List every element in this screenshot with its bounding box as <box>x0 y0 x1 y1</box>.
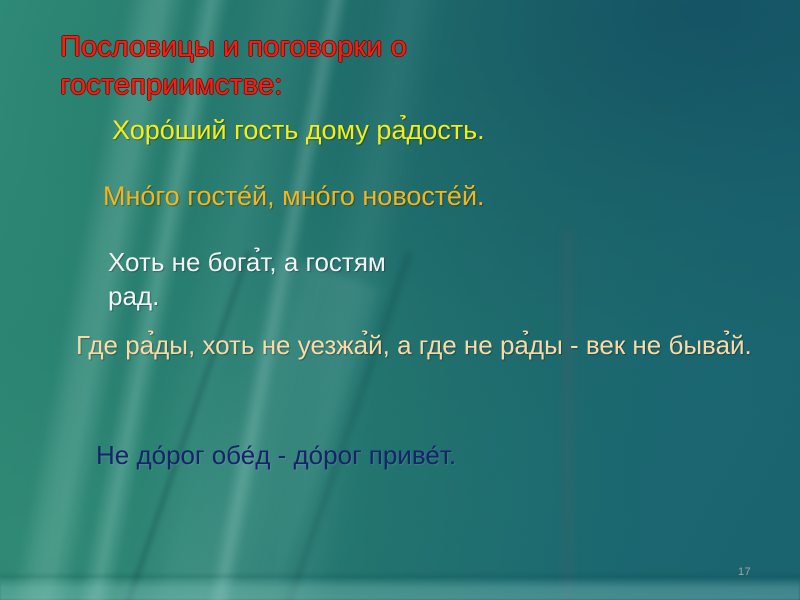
proverb-line-2: Мно́го госте́й, мно́го новосте́й. <box>103 180 663 213</box>
bottom-light-band <box>0 578 800 600</box>
proverb-line-1: Хоро́ший гость дому ра̉дость. <box>112 114 672 147</box>
background-seam <box>560 230 576 600</box>
slide-number: 17 <box>738 566 751 578</box>
presentation-slide: Пословицы и поговорки о гостеприимстве: … <box>0 0 800 600</box>
proverb-line-3: Хоть не бога̉т, а гостям рад. <box>108 246 443 314</box>
bottom-band-shadow <box>0 572 800 578</box>
proverb-line-4: Где ра̉ды, хоть не уезжа̉й, а где не ра̉… <box>76 328 766 362</box>
slide-title: Пословицы и поговорки о гостеприимстве: <box>60 28 530 105</box>
proverb-line-5: Не до́рог обе́д - до́рог приве́т. <box>96 440 716 472</box>
